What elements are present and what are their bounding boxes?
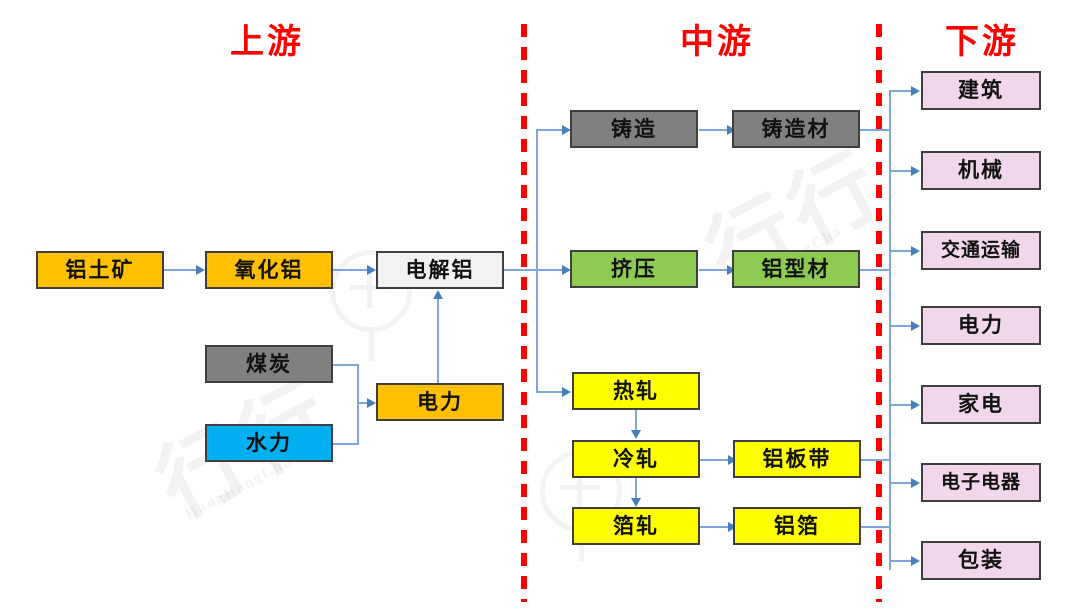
connector-hydro-to-junction	[333, 443, 359, 445]
section-header-downstream: 下游	[945, 14, 1019, 63]
arrowhead-hot-to-cold-rolling	[631, 430, 641, 439]
section-header-midstream: 中游	[680, 14, 754, 63]
arrowhead-alumina-to-electrolytic	[367, 265, 376, 275]
arrowhead-bus-to-packaging	[911, 556, 920, 566]
arrowhead-bus-to-machinery	[911, 166, 920, 176]
section-header-upstream: 上游	[230, 14, 304, 63]
node-alumina[interactable]: 氧化铝	[205, 251, 333, 289]
node-electric-power[interactable]: 电力	[921, 306, 1041, 345]
node-transportation[interactable]: 交通运输	[921, 231, 1041, 270]
connector-midstream-fanout-bus	[536, 129, 538, 393]
node-home-appliance[interactable]: 家电	[921, 385, 1041, 424]
node-hydropower[interactable]: 水力	[205, 424, 333, 462]
arrowhead-power-to-electrolytic	[433, 290, 443, 299]
connector-foil-to-bus	[861, 526, 891, 528]
connector-casting-material-to-bus	[860, 129, 891, 131]
connector-bus-to-packaging	[889, 560, 913, 562]
arrowhead-bus-to-home-appliance	[911, 400, 920, 410]
arrowhead-bus-to-electric-power	[911, 321, 920, 331]
connector-alumina-to-electrolytic	[332, 269, 368, 271]
node-cold-rolling[interactable]: 冷轧	[572, 440, 700, 478]
connector-foil-rolling-to-foil	[700, 526, 730, 528]
connector-coal-to-junction	[333, 364, 359, 366]
node-coal[interactable]: 煤炭	[205, 345, 333, 383]
connector-profile-to-bus	[860, 269, 891, 271]
connector-bus-to-transportation	[889, 250, 913, 252]
connector-cold-to-foil-rolling	[635, 478, 637, 499]
node-casting[interactable]: 铸造	[570, 110, 698, 148]
node-aluminum-foil[interactable]: 铝箔	[733, 507, 861, 545]
connector-to-casting	[536, 129, 564, 131]
connector-to-hot-rolling	[536, 391, 564, 393]
node-casting-material[interactable]: 铸造材	[732, 110, 860, 148]
connector-bus-to-electric-power	[889, 325, 913, 327]
connector-bus-to-construction	[889, 90, 913, 92]
connector-extrusion-to-profile	[699, 269, 729, 271]
node-machinery[interactable]: 机械	[921, 151, 1041, 190]
arrowhead-cold-to-foil-rolling	[631, 498, 641, 507]
arrowhead-junction-to-power	[367, 398, 376, 408]
aluminum-value-chain-diagram: 行行 HangHangCha 行行 HangHangCha 上游 中游 下游 铝…	[0, 0, 1080, 610]
connector-hot-to-cold-rolling	[635, 410, 637, 431]
divider-upstream-midstream	[521, 24, 527, 602]
node-electrolytic-aluminum[interactable]: 电解铝	[376, 251, 504, 289]
node-extrusion[interactable]: 挤压	[570, 250, 698, 288]
node-bauxite[interactable]: 铝土矿	[36, 251, 164, 289]
arrowhead-bauxite-to-alumina	[196, 265, 205, 275]
connector-electrolytic-trunk	[504, 269, 564, 271]
node-aluminum-sheet-strip[interactable]: 铝板带	[733, 440, 861, 478]
connector-cold-rolling-to-sheet	[700, 459, 730, 461]
arrowhead-bus-to-transportation	[911, 246, 920, 256]
connector-bus-to-home-appliance	[889, 404, 913, 406]
connector-casting-to-casting-material	[699, 129, 729, 131]
arrowhead-bus-to-construction	[911, 86, 920, 96]
divider-midstream-downstream	[876, 24, 882, 602]
node-packaging[interactable]: 包装	[921, 541, 1041, 580]
node-aluminum-profile[interactable]: 铝型材	[732, 250, 860, 288]
connector-bus-to-electronics	[889, 482, 913, 484]
node-hot-rolling[interactable]: 热轧	[572, 372, 700, 410]
connector-bauxite-to-alumina	[163, 269, 197, 271]
arrowhead-bus-to-electronics	[911, 478, 920, 488]
connector-power-bus-vertical	[357, 364, 359, 444]
watermark-brand-text-2: HangHangCha	[183, 453, 296, 524]
arrowhead-to-hot-rolling	[562, 387, 571, 397]
connector-sheet-to-bus	[861, 459, 891, 461]
node-electricity[interactable]: 电力	[376, 383, 504, 421]
node-construction[interactable]: 建筑	[921, 71, 1041, 110]
connector-downstream-distribution-bus	[889, 90, 891, 570]
connector-power-to-electrolytic	[437, 299, 439, 384]
node-foil-rolling[interactable]: 箔轧	[572, 507, 700, 545]
node-electronics[interactable]: 电子电器	[921, 463, 1041, 502]
connector-bus-to-machinery	[889, 170, 913, 172]
